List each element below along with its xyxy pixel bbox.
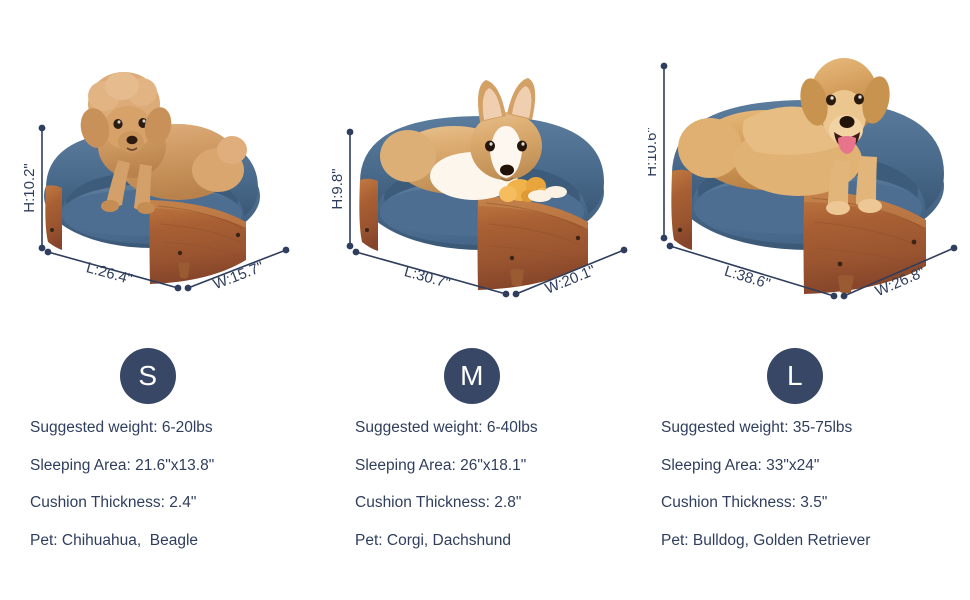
spec-suggested-weight-medium: Suggested weight: 6-40lbs — [355, 420, 655, 436]
dimension-length-small: L:26.4" — [84, 259, 134, 288]
size-badge-large: L — [767, 348, 823, 404]
spec-pet-large: Pet: Bulldog, Golden Retriever — [661, 533, 966, 549]
size-badge-small: S — [120, 348, 176, 404]
spec-suggested-weight-small: Suggested weight: 6-20lbs — [30, 420, 330, 436]
dimension-height-medium: H:9.8" — [329, 168, 346, 209]
spec-list-medium: Suggested weight: 6-40lbs Sleeping Area:… — [355, 420, 655, 548]
spec-pet-small: Pet: Chihuahua, Beagle — [30, 533, 330, 549]
product-column-small: H:10.2" L:26.4" W:15.7" — [0, 0, 324, 320]
product-illustration-small: H:10.2" L:26.4" W:15.7" — [0, 0, 324, 320]
dimension-height-large: H:10.6" — [648, 127, 660, 177]
spec-sleeping-area-large: Sleeping Area: 33"x24" — [661, 458, 966, 474]
spec-suggested-weight-large: Suggested weight: 35-75lbs — [661, 420, 966, 436]
spec-cushion-thickness-large: Cushion Thickness: 3.5" — [661, 495, 966, 511]
dimension-length-large: L:38.6" — [722, 263, 772, 293]
size-comparison-infographic: H:10.2" L:26.4" W:15.7" — [0, 0, 970, 600]
badge-circle-large: L — [767, 348, 823, 404]
dimension-height-small: H:10.2" — [21, 163, 38, 213]
spec-sleeping-area-small: Sleeping Area: 21.6"x13.8" — [30, 458, 330, 474]
spec-cushion-thickness-medium: Cushion Thickness: 2.8" — [355, 495, 655, 511]
spec-list-small: Suggested weight: 6-20lbs Sleeping Area:… — [30, 420, 330, 548]
product-illustration-large: H:10.6" L:38.6" W:26.8" — [648, 0, 970, 320]
badge-circle-small: S — [120, 348, 176, 404]
product-illustration-medium: H:9.8" L:30.7" W:20.1" — [324, 0, 648, 320]
dimension-length-medium: L:30.7" — [402, 263, 452, 292]
spec-list-large: Suggested weight: 35-75lbs Sleeping Area… — [661, 420, 966, 548]
badge-letter-large: L — [787, 362, 803, 390]
badge-letter-small: S — [138, 362, 157, 390]
spec-pet-medium: Pet: Corgi, Dachshund — [355, 533, 655, 549]
product-column-medium: H:9.8" L:30.7" W:20.1" — [324, 0, 648, 320]
badge-circle-medium: M — [444, 348, 500, 404]
spec-cushion-thickness-small: Cushion Thickness: 2.4" — [30, 495, 330, 511]
spec-sleeping-area-medium: Sleeping Area: 26"x18.1" — [355, 458, 655, 474]
product-column-large: H:10.6" L:38.6" W:26.8" — [648, 0, 970, 320]
badge-letter-medium: M — [460, 362, 484, 390]
size-badge-medium: M — [444, 348, 500, 404]
